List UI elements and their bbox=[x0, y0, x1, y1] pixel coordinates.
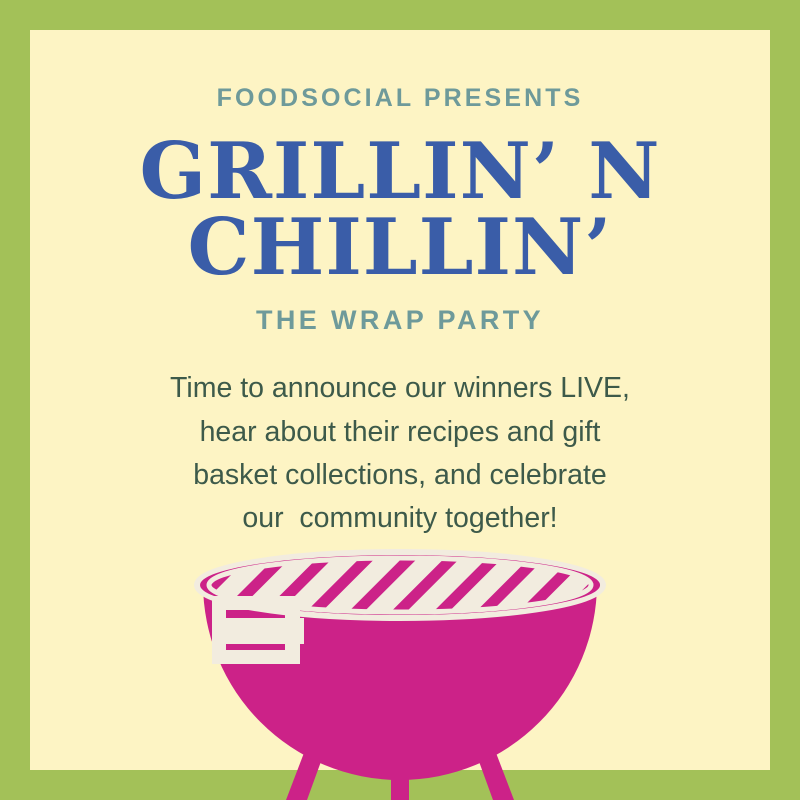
poster: FOODSOCIAL PRESENTS GRILLIN’ N CHILLIN’ … bbox=[0, 0, 800, 800]
poster-text-block: FOODSOCIAL PRESENTS GRILLIN’ N CHILLIN’ … bbox=[30, 30, 770, 541]
title-line-1: GRILLIN’ N bbox=[30, 134, 770, 210]
body-line-1: Time to announce our winners LIVE, bbox=[30, 367, 770, 410]
title-line-2: CHILLIN’ bbox=[30, 210, 770, 286]
page-title: GRILLIN’ N CHILLIN’ bbox=[30, 134, 770, 285]
body-copy: Time to announce our winners LIVE, hear … bbox=[30, 367, 770, 540]
subtitle-text: THE WRAP PARTY bbox=[30, 307, 770, 334]
poster-inner-panel: FOODSOCIAL PRESENTS GRILLIN’ N CHILLIN’ … bbox=[30, 30, 770, 770]
body-line-4: our community together! bbox=[30, 497, 770, 540]
eyebrow-text: FOODSOCIAL PRESENTS bbox=[30, 86, 770, 111]
body-line-3: basket collections, and celebrate bbox=[30, 454, 770, 497]
body-line-2: hear about their recipes and gift bbox=[30, 411, 770, 454]
